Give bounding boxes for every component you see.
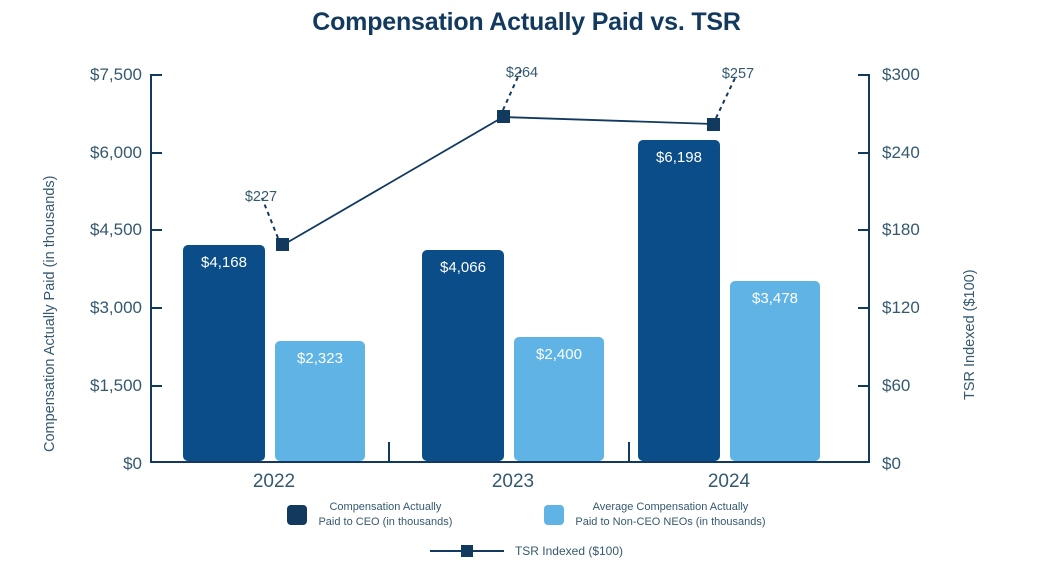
bar-ceo-2022[interactable]: $4,168 bbox=[183, 245, 265, 461]
y-left-tick-0: $0 bbox=[60, 454, 142, 474]
y-left-tick-mark-6000 bbox=[150, 152, 162, 154]
plot-area: $4,168 $2,323 $4,066 $2,400 $6,198 $3,47… bbox=[150, 74, 870, 463]
chart-legend: Compensation Actually Paid to CEO (in th… bbox=[0, 500, 1053, 561]
tsr-marker-2024[interactable] bbox=[707, 118, 720, 131]
chart-title: Compensation Actually Paid vs. TSR bbox=[0, 8, 1053, 37]
tsr-label-2024: $257 bbox=[703, 66, 773, 82]
legend-label-ceo: Compensation Actually Paid to CEO (in th… bbox=[318, 500, 452, 530]
bar-label-neo-2023: $2,400 bbox=[514, 346, 604, 363]
legend-swatch-ceo-icon bbox=[287, 505, 307, 525]
bar-neo-2022[interactable]: $2,323 bbox=[275, 341, 365, 461]
legend-line-marker-icon bbox=[430, 541, 504, 561]
y-right-tick-300: $300 bbox=[882, 65, 952, 85]
legend-item-neo[interactable]: Average Compensation Actually Paid to No… bbox=[544, 500, 765, 530]
tsr-marker-2022[interactable] bbox=[276, 238, 289, 251]
x-axis-label-2022: 2022 bbox=[214, 471, 334, 493]
y-right-tick-mark-300 bbox=[858, 74, 870, 76]
y-axis-left-title: Compensation Actually Paid (in thousands… bbox=[42, 176, 58, 452]
y-right-tick-60: $60 bbox=[882, 376, 952, 396]
bar-ceo-2023[interactable]: $4,066 bbox=[422, 250, 504, 461]
y-left-tick-1500: $1,500 bbox=[60, 376, 142, 396]
tsr-label-2022: $227 bbox=[226, 189, 296, 205]
tsr-label-2023: $264 bbox=[487, 65, 557, 81]
legend-item-ceo[interactable]: Compensation Actually Paid to CEO (in th… bbox=[287, 500, 452, 530]
y-right-tick-0: $0 bbox=[882, 454, 952, 474]
bar-neo-2024[interactable]: $3,478 bbox=[730, 281, 820, 461]
y-left-tick-mark-4500 bbox=[150, 229, 162, 231]
bar-neo-2023[interactable]: $2,400 bbox=[514, 337, 604, 461]
bar-ceo-2024[interactable]: $6,198 bbox=[638, 140, 720, 461]
legend-item-tsr[interactable]: TSR Indexed ($100) bbox=[430, 541, 623, 561]
bar-label-neo-2022: $2,323 bbox=[275, 350, 365, 367]
y-left-tick-7500: $7,500 bbox=[60, 65, 142, 85]
y-right-tick-120: $120 bbox=[882, 298, 952, 318]
y-axis-left-line bbox=[150, 74, 152, 463]
y-left-tick-6000: $6,000 bbox=[60, 143, 142, 163]
x-axis-label-2024: 2024 bbox=[669, 471, 789, 493]
x-axis-separator-1 bbox=[388, 442, 390, 462]
y-right-tick-mark-240 bbox=[858, 152, 870, 154]
y-right-tick-180: $180 bbox=[882, 220, 952, 240]
chart-container: Compensation Actually Paid vs. TSR Compe… bbox=[0, 0, 1053, 576]
y-left-tick-mark-1500 bbox=[150, 385, 162, 387]
tsr-leader-2024 bbox=[716, 76, 736, 118]
bar-label-ceo-2022: $4,168 bbox=[183, 254, 265, 271]
legend-label-neo-line1: Average Compensation Actually bbox=[575, 500, 765, 515]
bar-label-ceo-2023: $4,066 bbox=[422, 259, 504, 276]
x-axis-label-2023: 2023 bbox=[453, 471, 573, 493]
bar-label-neo-2024: $3,478 bbox=[730, 290, 820, 307]
y-axis-right-line bbox=[868, 74, 870, 463]
bar-label-ceo-2024: $6,198 bbox=[638, 149, 720, 166]
tsr-marker-2023[interactable] bbox=[497, 110, 510, 123]
y-right-tick-mark-180 bbox=[858, 229, 870, 231]
legend-swatch-neo-icon bbox=[544, 505, 564, 525]
y-right-tick-mark-60 bbox=[858, 385, 870, 387]
y-right-tick-240: $240 bbox=[882, 143, 952, 163]
y-axis-right-title: TSR Indexed ($100) bbox=[962, 269, 978, 400]
legend-label-neo-line2: Paid to Non-CEO NEOs (in thousands) bbox=[575, 515, 765, 530]
y-left-tick-mark-3000 bbox=[150, 307, 162, 309]
y-right-tick-mark-120 bbox=[858, 307, 870, 309]
legend-label-ceo-line1: Compensation Actually bbox=[318, 500, 452, 515]
legend-square-marker-icon bbox=[461, 545, 473, 557]
x-axis-line bbox=[150, 461, 870, 463]
x-axis-separator-2 bbox=[628, 442, 630, 462]
y-left-tick-3000: $3,000 bbox=[60, 298, 142, 318]
legend-label-neo: Average Compensation Actually Paid to No… bbox=[575, 500, 765, 530]
legend-label-ceo-line2: Paid to CEO (in thousands) bbox=[318, 515, 452, 530]
legend-label-tsr: TSR Indexed ($100) bbox=[515, 543, 623, 559]
y-left-tick-mark-7500 bbox=[150, 74, 162, 76]
y-left-tick-4500: $4,500 bbox=[60, 220, 142, 240]
